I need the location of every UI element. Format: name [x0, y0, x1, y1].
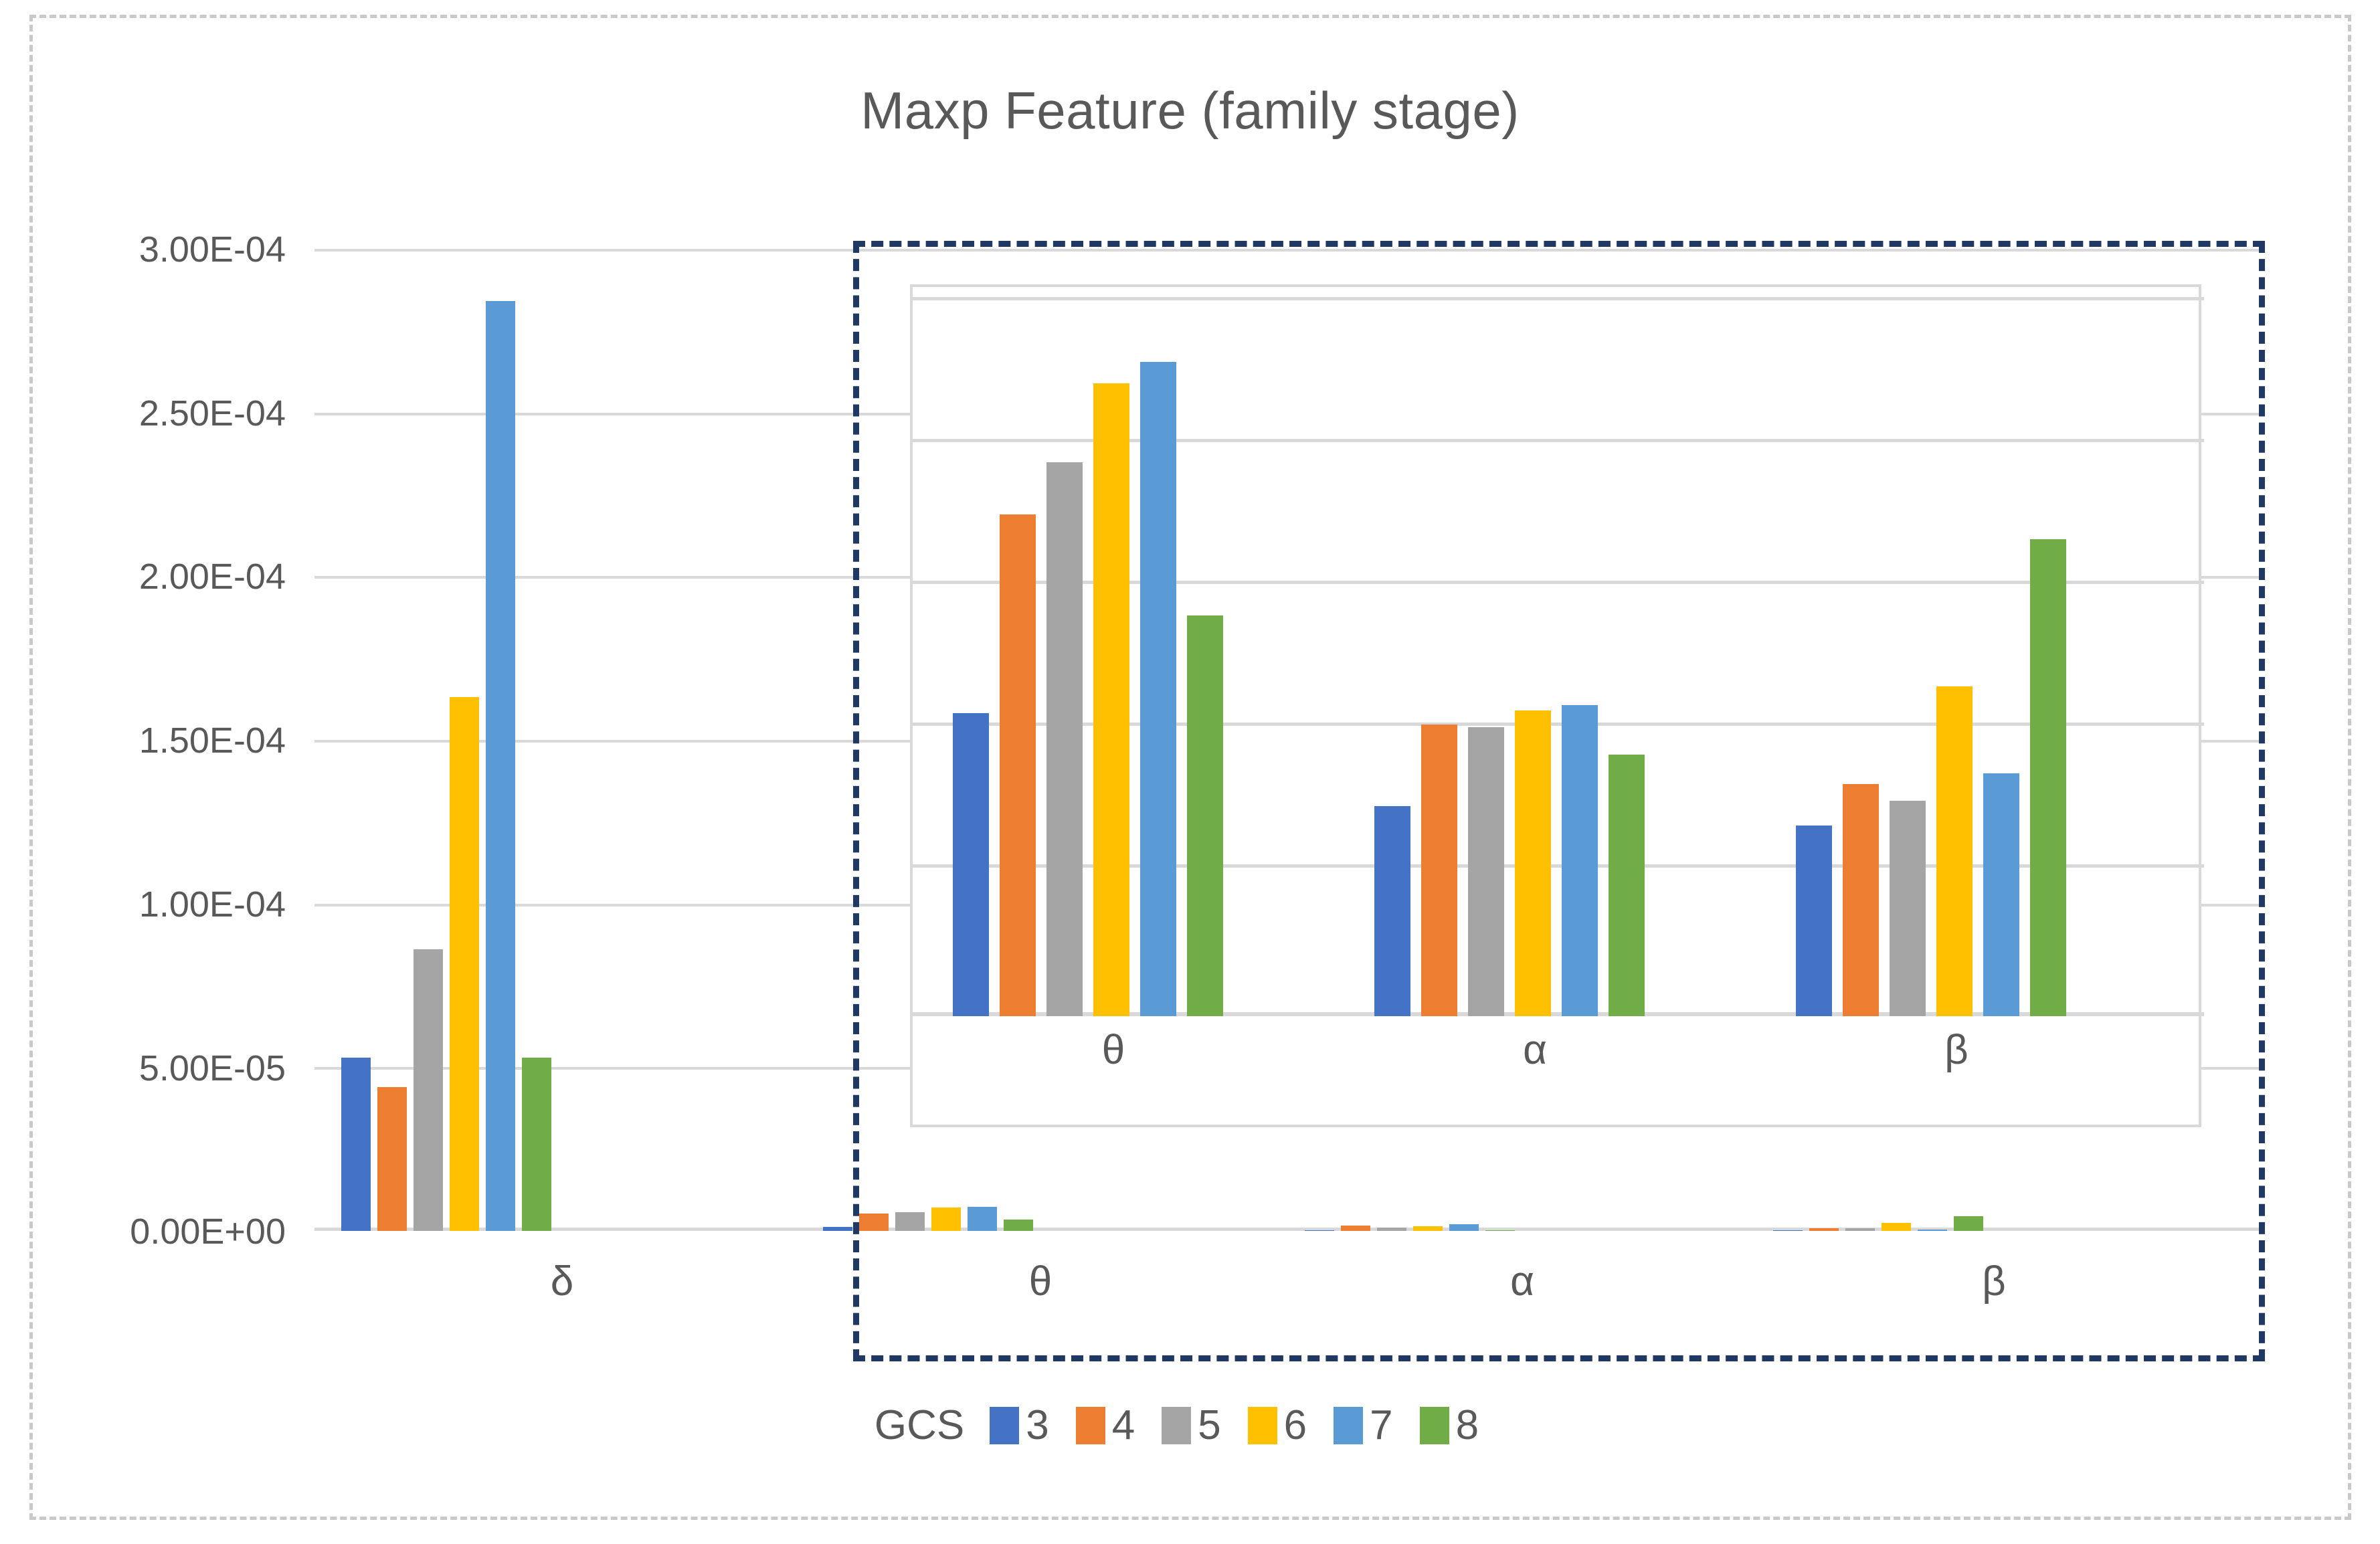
legend-item-5[interactable]: 5 [1162, 1402, 1220, 1449]
inset-chart-panel: θ α β [910, 284, 2201, 1127]
inset-bar [1609, 755, 1645, 1016]
inset-bar [1046, 462, 1083, 1016]
y-tick-label: 2.00E-04 [18, 556, 286, 597]
bar [341, 1058, 371, 1231]
legend-item-8[interactable]: 8 [1420, 1402, 1479, 1449]
inset-plot-area [913, 297, 2204, 1016]
inset-bar [1421, 725, 1457, 1016]
bar-group-delta [341, 249, 796, 1231]
inset-bar [1187, 615, 1223, 1016]
inset-bar [1890, 801, 1926, 1016]
inset-bar [1796, 826, 1832, 1016]
inset-bar [1140, 362, 1176, 1016]
bar [377, 1087, 407, 1231]
inset-bar [2030, 539, 2066, 1016]
y-tick-label: 3.00E-04 [18, 229, 286, 270]
legend-title: GCS [875, 1402, 964, 1449]
legend-swatch-4 [1076, 1407, 1105, 1444]
inset-bar-group-alpha [1374, 297, 1696, 1016]
legend-item-7[interactable]: 7 [1334, 1402, 1392, 1449]
legend-item-3[interactable]: 3 [990, 1402, 1048, 1449]
legend-item-6[interactable]: 6 [1248, 1402, 1307, 1449]
page-title: Maxp Feature (family stage) [0, 80, 2380, 141]
inset-x-tick-label-beta: β [1856, 1026, 2057, 1074]
inset-bar-group-beta [1796, 297, 2117, 1016]
bar [414, 949, 443, 1231]
inset-bar [1374, 806, 1410, 1016]
legend: GCS 3 4 5 6 7 8 [0, 1402, 2380, 1449]
y-tick-label: 1.50E-04 [18, 720, 286, 761]
legend-label-5: 5 [1198, 1402, 1220, 1449]
bar [823, 1227, 852, 1231]
inset-bar [1562, 705, 1598, 1016]
inset-bar [953, 713, 989, 1016]
legend-label-6: 6 [1284, 1402, 1307, 1449]
legend-label-8: 8 [1456, 1402, 1479, 1449]
bar [486, 301, 515, 1231]
inset-x-tick-label-theta: θ [1013, 1026, 1214, 1074]
y-tick-label: 2.50E-04 [18, 393, 286, 434]
x-tick-label-delta: δ [462, 1258, 662, 1305]
inset-bar [1468, 727, 1504, 1016]
legend-label-4: 4 [1112, 1402, 1135, 1449]
legend-swatch-6 [1248, 1407, 1277, 1444]
legend-item-4[interactable]: 4 [1076, 1402, 1135, 1449]
bar [450, 697, 479, 1231]
legend-label-3: 3 [1026, 1402, 1048, 1449]
legend-swatch-3 [990, 1407, 1019, 1444]
y-tick-label: 0.00E+00 [18, 1211, 286, 1252]
inset-bar-group-theta [953, 297, 1274, 1016]
y-tick-label: 5.00E-05 [18, 1048, 286, 1089]
inset-bar [1936, 686, 1973, 1016]
inset-bar [1843, 784, 1879, 1016]
inset-bar [1093, 383, 1129, 1016]
y-tick-label: 1.00E-04 [18, 884, 286, 925]
legend-swatch-5 [1162, 1407, 1191, 1444]
legend-swatch-7 [1334, 1407, 1363, 1444]
bar [522, 1058, 551, 1231]
inset-bar [1983, 773, 2019, 1016]
inset-x-tick-label-alpha: α [1435, 1026, 1635, 1074]
inset-bar [1000, 514, 1036, 1016]
legend-swatch-8 [1420, 1407, 1449, 1444]
legend-label-7: 7 [1370, 1402, 1392, 1449]
inset-bar [1515, 710, 1551, 1016]
